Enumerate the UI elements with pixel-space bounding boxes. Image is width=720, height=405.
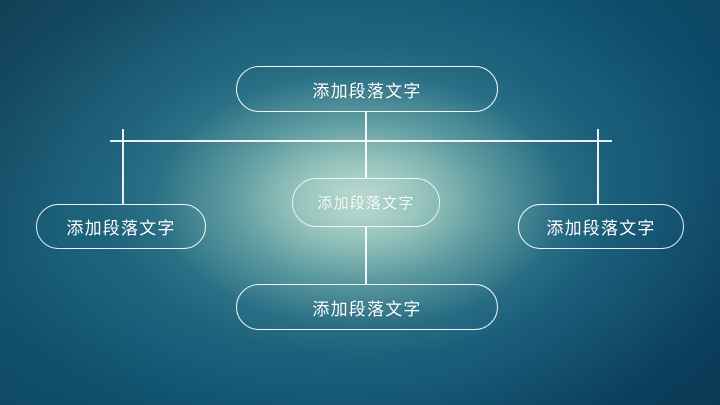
connector-horizontal-bus [110,140,612,142]
node-center[interactable]: 添加段落文字 [292,178,440,227]
connector-bus-to-right [597,129,599,205]
node-right[interactable]: 添加段落文字 [518,204,684,249]
node-left[interactable]: 添加段落文字 [36,204,206,249]
slide-canvas: 添加段落文字 添加段落文字 添加段落文字 添加段落文字 添加段落文字 [0,0,720,405]
node-top[interactable]: 添加段落文字 [236,66,498,112]
connector-center-to-bottom [365,227,367,284]
connector-top-to-center [365,111,367,178]
connector-bus-to-left [122,129,124,205]
node-bottom[interactable]: 添加段落文字 [236,284,498,330]
